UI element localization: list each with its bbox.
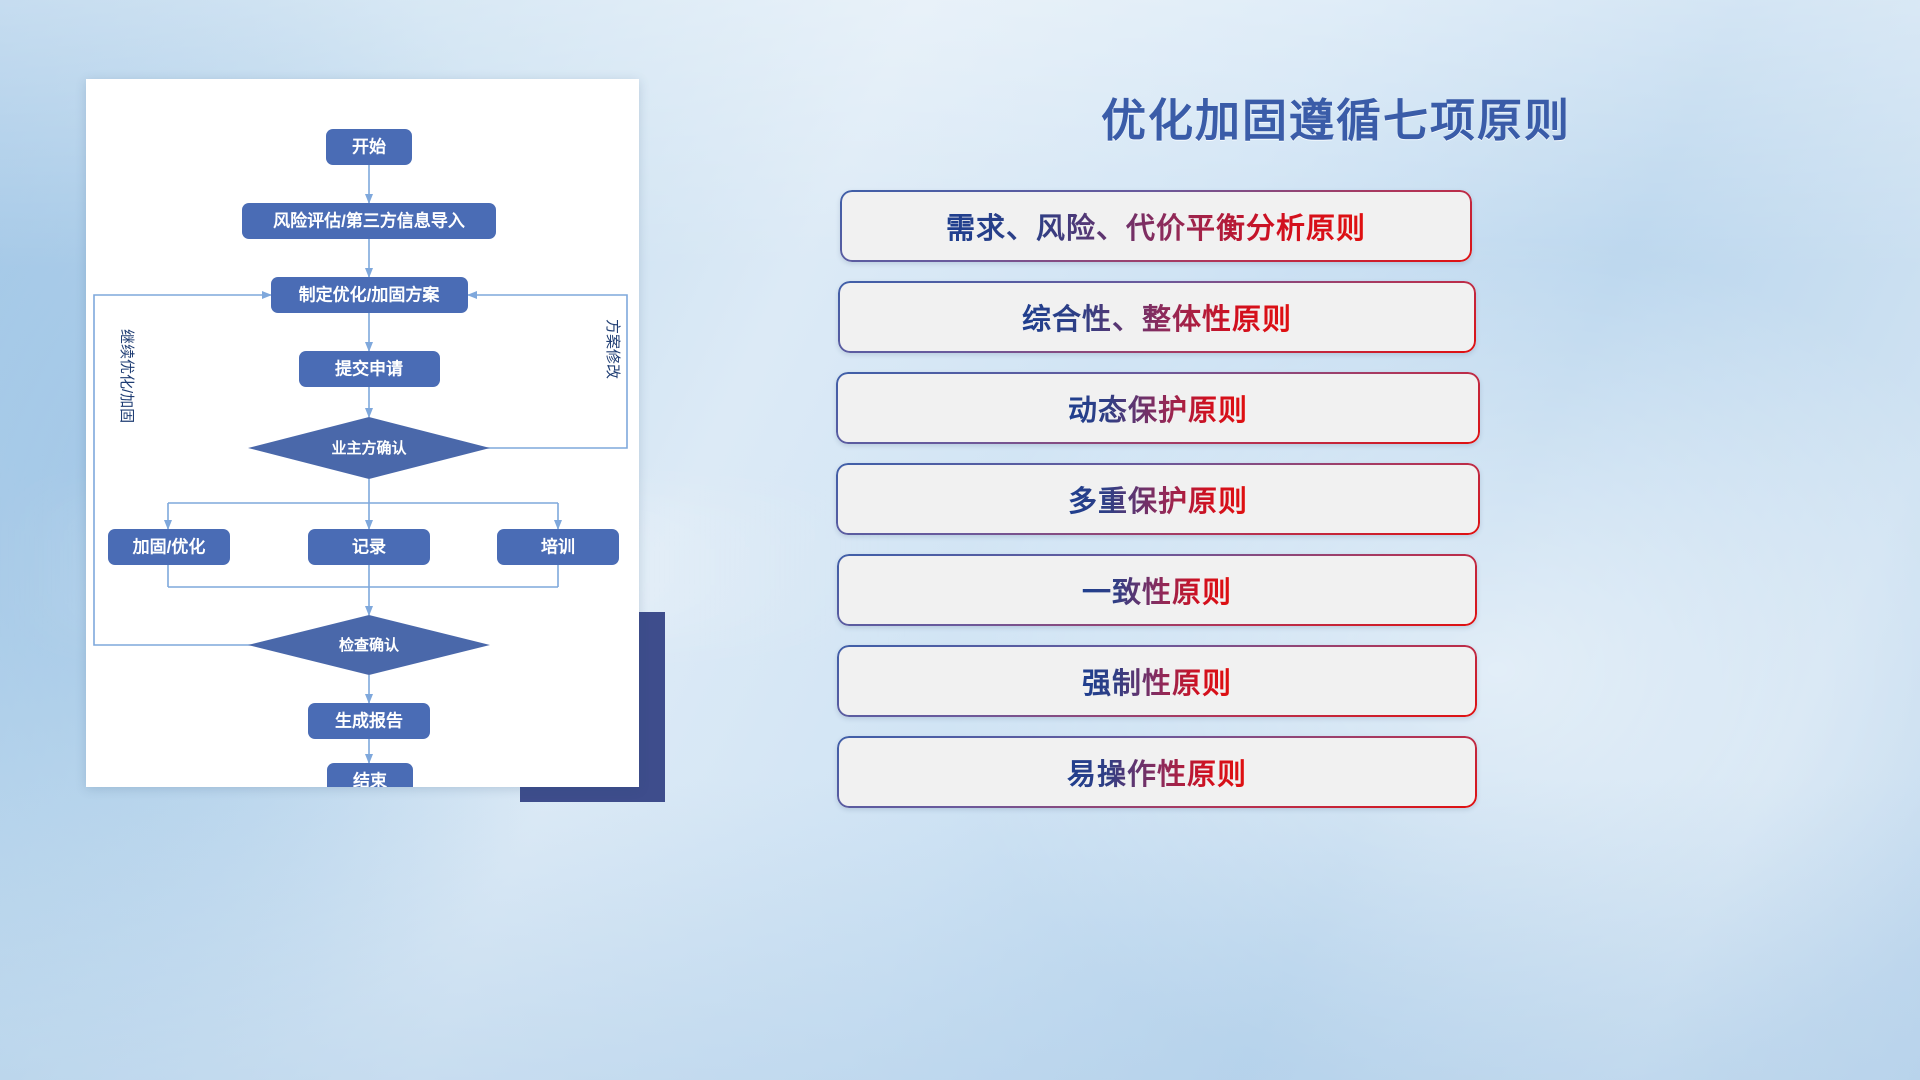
flow-node-check-confirm[interactable]: 检查确认 — [248, 615, 490, 675]
principles-list: 需求、风险、代价平衡分析原则 综合性、整体性原则 动态保护原则 多重保护原则 一… — [836, 190, 1836, 808]
flow-node-reinforce[interactable]: 加固/优化 — [108, 529, 230, 565]
principle-card-5-label: 一致性原则 — [1082, 569, 1232, 611]
flow-edge-label-continue-optimize: 继续优化/加固 — [118, 329, 135, 423]
flow-node-training-label: 培训 — [541, 536, 575, 556]
flow-node-submit-application[interactable]: 提交申请 — [299, 351, 440, 387]
flow-node-generate-report[interactable]: 生成报告 — [308, 703, 430, 739]
flow-node-submit-application-label: 提交申请 — [335, 358, 403, 378]
principle-card-6[interactable]: 强制性原则 — [837, 645, 1477, 717]
principles-title: 优化加固遵循七项原则 — [836, 78, 1836, 148]
flow-node-plan-label: 制定优化/加固方案 — [299, 284, 441, 304]
flow-node-end-label: 结束 — [353, 770, 387, 787]
principle-card-6-label: 强制性原则 — [1082, 660, 1232, 702]
principle-card-1[interactable]: 需求、风险、代价平衡分析原则 — [840, 190, 1472, 262]
flow-node-start-label: 开始 — [352, 136, 386, 156]
flow-node-check-confirm-label: 检查确认 — [339, 636, 400, 654]
principle-card-5[interactable]: 一致性原则 — [837, 554, 1477, 626]
flow-node-end[interactable]: 结束 — [327, 763, 413, 787]
flow-node-owner-confirm-label: 业主方确认 — [331, 439, 407, 457]
principle-card-3[interactable]: 动态保护原则 — [836, 372, 1480, 444]
principle-card-4-label: 多重保护原则 — [1068, 478, 1248, 520]
principle-card-7-label: 易操作性原则 — [1067, 751, 1247, 793]
principle-card-2-label: 综合性、整体性原则 — [1022, 296, 1292, 338]
flow-node-record-label: 记录 — [352, 537, 386, 556]
principle-card-7[interactable]: 易操作性原则 — [837, 736, 1477, 808]
principle-card-4[interactable]: 多重保护原则 — [836, 463, 1480, 535]
flow-node-risk-assessment[interactable]: 风险评估/第三方信息导入 — [242, 203, 496, 239]
principle-card-3-label: 动态保护原则 — [1068, 387, 1248, 429]
flowchart-diagram: 开始 风险评估/第三方信息导入 制定优化/加固方案 提交申请 业主方确认 加固/… — [86, 79, 639, 787]
principle-card-2[interactable]: 综合性、整体性原则 — [838, 281, 1476, 353]
flow-node-record[interactable]: 记录 — [308, 529, 430, 565]
principles-panel: 优化加固遵循七项原则 需求、风险、代价平衡分析原则 综合性、整体性原则 动态保护… — [836, 78, 1836, 1038]
flow-node-reinforce-label: 加固/优化 — [132, 536, 206, 556]
flow-edge-label-plan-revision: 方案修改 — [604, 319, 622, 379]
flow-node-plan[interactable]: 制定优化/加固方案 — [271, 277, 468, 313]
flow-node-owner-confirm[interactable]: 业主方确认 — [248, 417, 490, 479]
flowchart-card: 开始 风险评估/第三方信息导入 制定优化/加固方案 提交申请 业主方确认 加固/… — [86, 79, 639, 787]
flow-node-generate-report-label: 生成报告 — [335, 710, 403, 730]
flow-node-training[interactable]: 培训 — [497, 529, 619, 565]
flow-node-start[interactable]: 开始 — [326, 129, 412, 165]
flow-node-risk-assessment-label: 风险评估/第三方信息导入 — [273, 210, 465, 230]
principle-card-1-label: 需求、风险、代价平衡分析原则 — [946, 205, 1366, 247]
